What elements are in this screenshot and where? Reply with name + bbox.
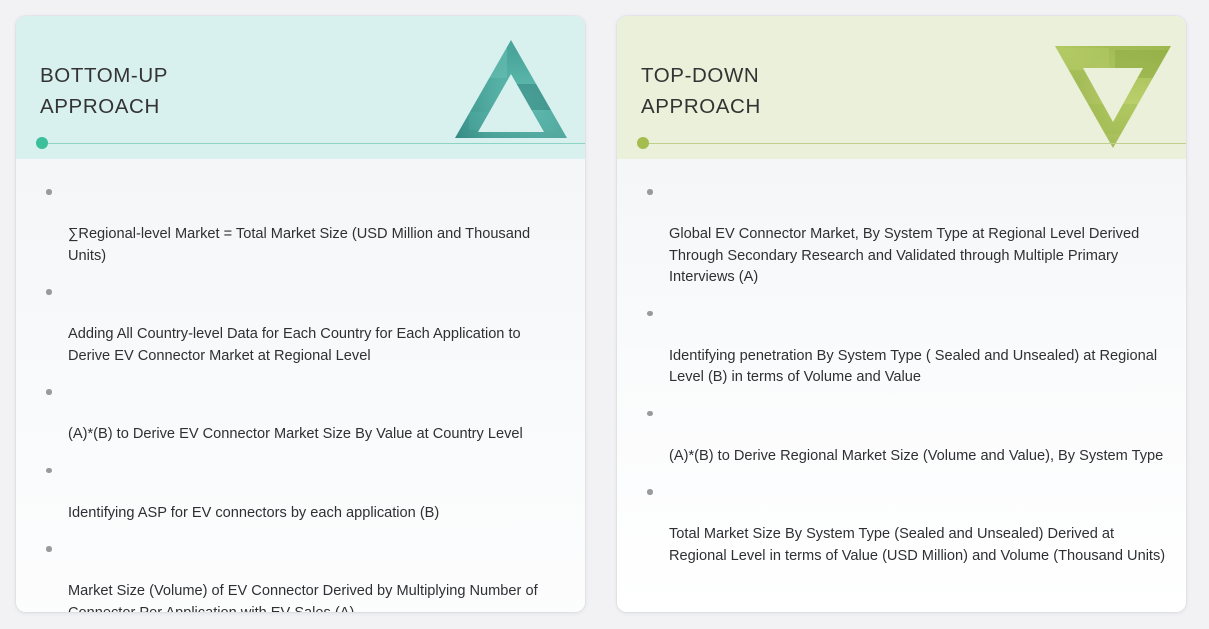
list-item-text: Total Market Size By System Type (Sealed… (669, 526, 1165, 564)
bottom-up-card-header: BOTTOM-UP APPROACH (16, 16, 585, 159)
list-item: Market Size (Volume) of EV Connector Der… (38, 538, 567, 612)
triangle-down-icon (1049, 36, 1177, 151)
bullet-dot-icon (46, 189, 52, 195)
bottom-up-approach-card: BOTTOM-UP APPROACH ∑Regional-level Marke… (16, 16, 585, 612)
list-item: Adding All Country-level Data for Each C… (38, 281, 567, 367)
list-item: Identifying penetration By System Type (… (639, 303, 1168, 389)
top-down-card-header: TOP-DOWN APPROACH (617, 16, 1186, 159)
list-item: (A)*(B) to Derive EV Connector Market Si… (38, 381, 567, 446)
bottom-up-title: BOTTOM-UP APPROACH (40, 60, 168, 122)
bullet-dot-icon (46, 468, 52, 474)
list-item: Total Market Size By System Type (Sealed… (639, 481, 1168, 567)
list-item-text: Adding All Country-level Data for Each C… (68, 326, 521, 364)
list-item-text: Market Size (Volume) of EV Connector Der… (68, 583, 538, 612)
list-item: ∑Regional-level Market = Total Market Si… (38, 181, 567, 267)
triangle-up-icon (451, 34, 571, 144)
list-item-text: Global EV Connector Market, By System Ty… (669, 226, 1139, 285)
bullet-dot-icon (46, 289, 52, 295)
list-item-text: (A)*(B) to Derive EV Connector Market Si… (68, 426, 523, 442)
top-down-approach-card: TOP-DOWN APPROACH Global EV Connector Ma… (617, 16, 1186, 612)
list-item-text: Identifying penetration By System Type (… (669, 348, 1157, 386)
bullet-dot-icon (647, 411, 653, 417)
approach-comparison-layout: BOTTOM-UP APPROACH ∑Regional-level Marke… (0, 0, 1209, 629)
bottom-up-header-rule (42, 143, 585, 144)
bullet-dot-icon (647, 189, 653, 195)
top-down-header-rule (643, 143, 1186, 144)
list-item-text: ∑Regional-level Market = Total Market Si… (68, 226, 530, 264)
bullet-dot-icon (46, 546, 52, 552)
bottom-up-bullet-list: ∑Regional-level Market = Total Market Si… (38, 181, 567, 612)
bottom-up-card-body: ∑Regional-level Market = Total Market Si… (16, 159, 585, 612)
bottom-up-header-dot (36, 137, 48, 149)
list-item: Identifying ASP for EV connectors by eac… (38, 460, 567, 525)
top-down-card-body: Global EV Connector Market, By System Ty… (617, 159, 1186, 612)
bullet-dot-icon (647, 311, 653, 317)
list-item: Global EV Connector Market, By System Ty… (639, 181, 1168, 289)
top-down-title: TOP-DOWN APPROACH (641, 60, 761, 122)
bullet-dot-icon (46, 389, 52, 395)
list-item-text: Identifying ASP for EV connectors by eac… (68, 505, 439, 521)
bullet-dot-icon (647, 489, 653, 495)
list-item-text: (A)*(B) to Derive Regional Market Size (… (669, 448, 1163, 464)
top-down-bullet-list: Global EV Connector Market, By System Ty… (639, 181, 1168, 567)
top-down-header-dot (637, 137, 649, 149)
list-item: (A)*(B) to Derive Regional Market Size (… (639, 403, 1168, 468)
